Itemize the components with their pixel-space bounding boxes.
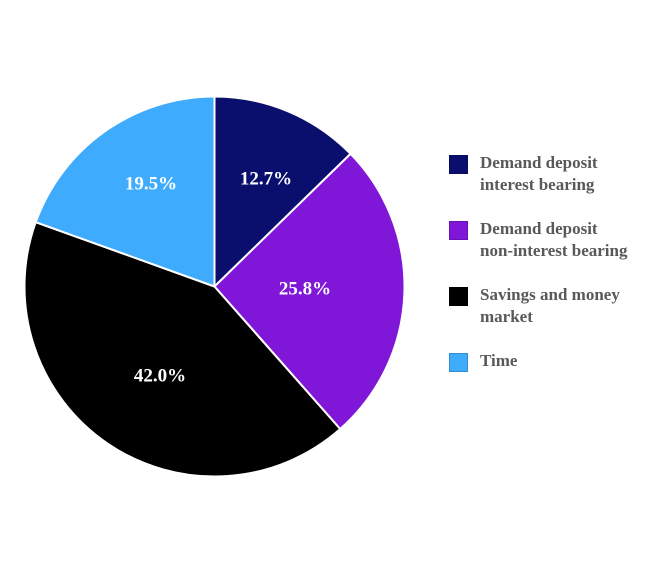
slice-label-demand-deposit-interest-bearing: 12.7% (240, 168, 292, 189)
legend-label-demand-deposit-interest-bearing: Demand deposit interest bearing (480, 152, 598, 197)
chart-legend: Demand deposit interest bearingDemand de… (449, 152, 672, 393)
pie-svg: 12.7%25.8%42.0%19.5% (0, 0, 430, 576)
legend-swatch-savings-and-money-market (449, 287, 468, 306)
legend-label-demand-deposit-non-interest-bearing: Demand deposit non-interest bearing (480, 218, 628, 263)
legend-label-savings-and-money-market: Savings and money market (480, 284, 620, 329)
legend-swatch-demand-deposit-non-interest-bearing (449, 221, 468, 240)
legend-item-time[interactable]: Time (449, 350, 672, 372)
legend-swatch-demand-deposit-interest-bearing (449, 155, 468, 174)
slice-label-time: 19.5% (125, 173, 177, 194)
slice-label-demand-deposit-non-interest-bearing: 25.8% (279, 278, 331, 299)
slice-label-savings-and-money-market: 42.0% (134, 365, 186, 386)
pie-plot-area: 12.7%25.8%42.0%19.5% (0, 0, 430, 576)
pie-chart-figure: 12.7%25.8%42.0%19.5% Demand deposit inte… (0, 0, 672, 576)
legend-item-demand-deposit-interest-bearing[interactable]: Demand deposit interest bearing (449, 152, 672, 197)
legend-swatch-time (449, 353, 468, 372)
legend-label-time: Time (480, 350, 517, 372)
legend-item-demand-deposit-non-interest-bearing[interactable]: Demand deposit non-interest bearing (449, 218, 672, 263)
legend-item-savings-and-money-market[interactable]: Savings and money market (449, 284, 672, 329)
